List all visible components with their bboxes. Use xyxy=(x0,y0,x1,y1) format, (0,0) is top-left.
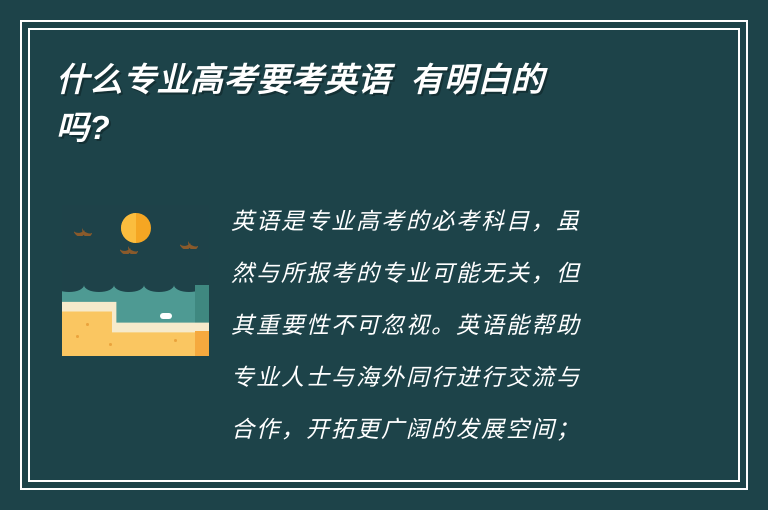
bird-icon xyxy=(74,227,92,236)
sand-grain-dot xyxy=(109,343,112,346)
page-title: 什么专业高考要考英语 有明白的 吗? xyxy=(56,56,696,152)
sand-shadow-band xyxy=(195,331,209,356)
beach-sunset-illustration xyxy=(62,205,209,356)
poster-canvas: 什么专业高考要考英语 有明白的 吗? xyxy=(0,0,768,510)
title-line-1: 什么专业高考要考英语 有明白的 xyxy=(56,56,696,104)
content-area: 英语是专业高考的必考科目，虽 然与所报考的专业可能无关，但 其重要性不可忽视。英… xyxy=(56,196,712,470)
sun-icon xyxy=(121,213,151,243)
sand-grain-dot xyxy=(174,339,177,342)
bird-icon xyxy=(120,245,138,254)
sand-grain-dot xyxy=(76,335,79,338)
beach-region xyxy=(62,287,209,356)
body-line: 然与所报考的专业可能无关，但 xyxy=(231,248,712,300)
dry-sand-shape xyxy=(62,287,209,356)
body-line: 专业人士与海外同行进行交流与 xyxy=(231,352,712,404)
body-line: 英语是专业高考的必考科目，虽 xyxy=(231,196,712,248)
body-line: 合作，开拓更广阔的发展空间； xyxy=(231,404,712,456)
body-line: 其重要性不可忽视。英语能帮助 xyxy=(231,300,712,352)
bird-icon xyxy=(180,240,198,249)
body-text: 英语是专业高考的必考科目，虽 然与所报考的专业可能无关，但 其重要性不可忽视。英… xyxy=(231,196,712,456)
title-line-2: 吗? xyxy=(56,104,696,152)
sand-grain-dot xyxy=(86,323,89,326)
